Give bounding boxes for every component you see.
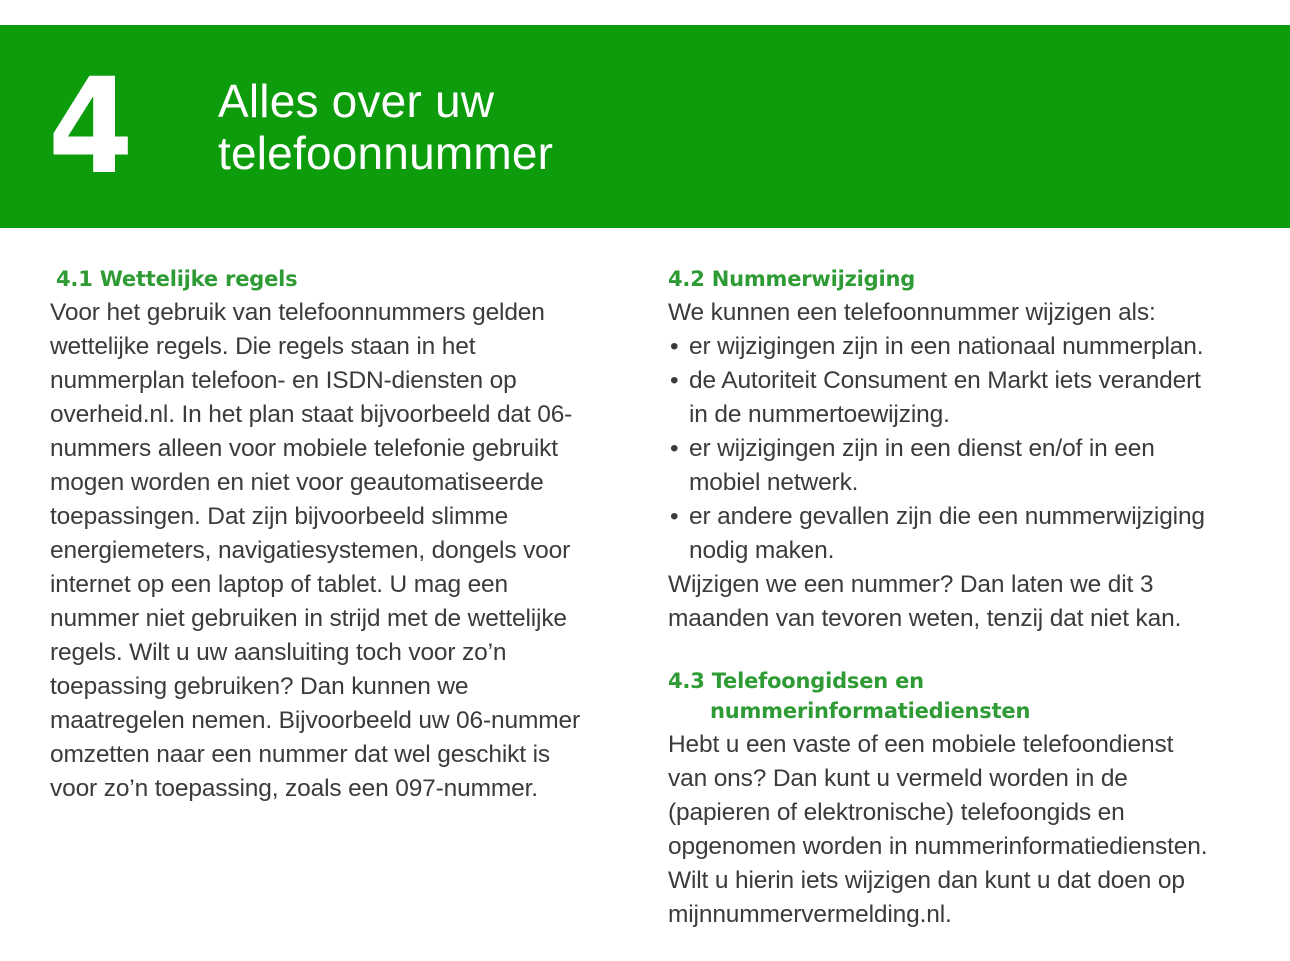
list-item-label: de Autoriteit Consument en Markt iets ve… — [689, 367, 1201, 428]
list-item-label: er wijzigingen zijn in een dienst en/of … — [689, 435, 1155, 496]
section-4-2-bullet-list: • er wijzigingen zijn in een nationaal n… — [668, 330, 1218, 568]
section-heading-4-2: 4.2 Nummerwijziging — [668, 264, 1218, 294]
section-spacer — [668, 636, 1218, 666]
list-item-label: er andere gevallen zijn die een nummerwi… — [689, 503, 1205, 564]
list-item: • er wijzigingen zijn in een dienst en/o… — [668, 432, 1218, 500]
section-4-1-paragraph: Voor het gebruik van telefoonnummers gel… — [50, 296, 600, 806]
list-item: • de Autoriteit Consument en Markt iets … — [668, 364, 1218, 432]
section-heading-4-3: 4.3 Telefoongidsen en nummerinformatiedi… — [668, 666, 1218, 726]
section-4-2-outro: Wijzigen we een nummer? Dan laten we dit… — [668, 568, 1218, 636]
section-4-2-intro: We kunnen een telefoonnummer wijzigen al… — [668, 296, 1218, 330]
left-column: 4.1 Wettelijke regels Voor het gebruik v… — [50, 264, 600, 961]
bullet-icon: • — [670, 432, 678, 466]
section-4-3-paragraph: Hebt u een vaste of een mobiele telefoon… — [668, 728, 1218, 932]
document-page: 4 Alles over uw telefoonnummer 4.1 Wette… — [0, 0, 1290, 961]
list-item: • er wijzigingen zijn in een nationaal n… — [668, 330, 1218, 364]
bullet-icon: • — [670, 330, 678, 364]
list-item-label: er wijzigingen zijn in een nationaal num… — [689, 333, 1203, 360]
bullet-icon: • — [670, 364, 678, 398]
bullet-icon: • — [670, 500, 678, 534]
chapter-title: Alles over uw telefoonnummer — [218, 75, 553, 179]
right-column: 4.2 Nummerwijziging We kunnen een telefo… — [668, 264, 1218, 961]
page-content: 4.1 Wettelijke regels Voor het gebruik v… — [0, 228, 1290, 961]
chapter-title-line-2: telefoonnummer — [218, 127, 553, 179]
chapter-banner: 4 Alles over uw telefoonnummer — [0, 25, 1290, 228]
section-heading-4-1: 4.1 Wettelijke regels — [50, 264, 600, 294]
chapter-number: 4 — [48, 61, 169, 193]
list-item: • er andere gevallen zijn die een nummer… — [668, 500, 1218, 568]
section-heading-4-3-line-2: nummerinformatiediensten — [668, 696, 1218, 726]
chapter-title-line-1: Alles over uw — [218, 75, 553, 127]
section-heading-4-3-line-1: 4.3 Telefoongidsen en — [668, 666, 1218, 696]
